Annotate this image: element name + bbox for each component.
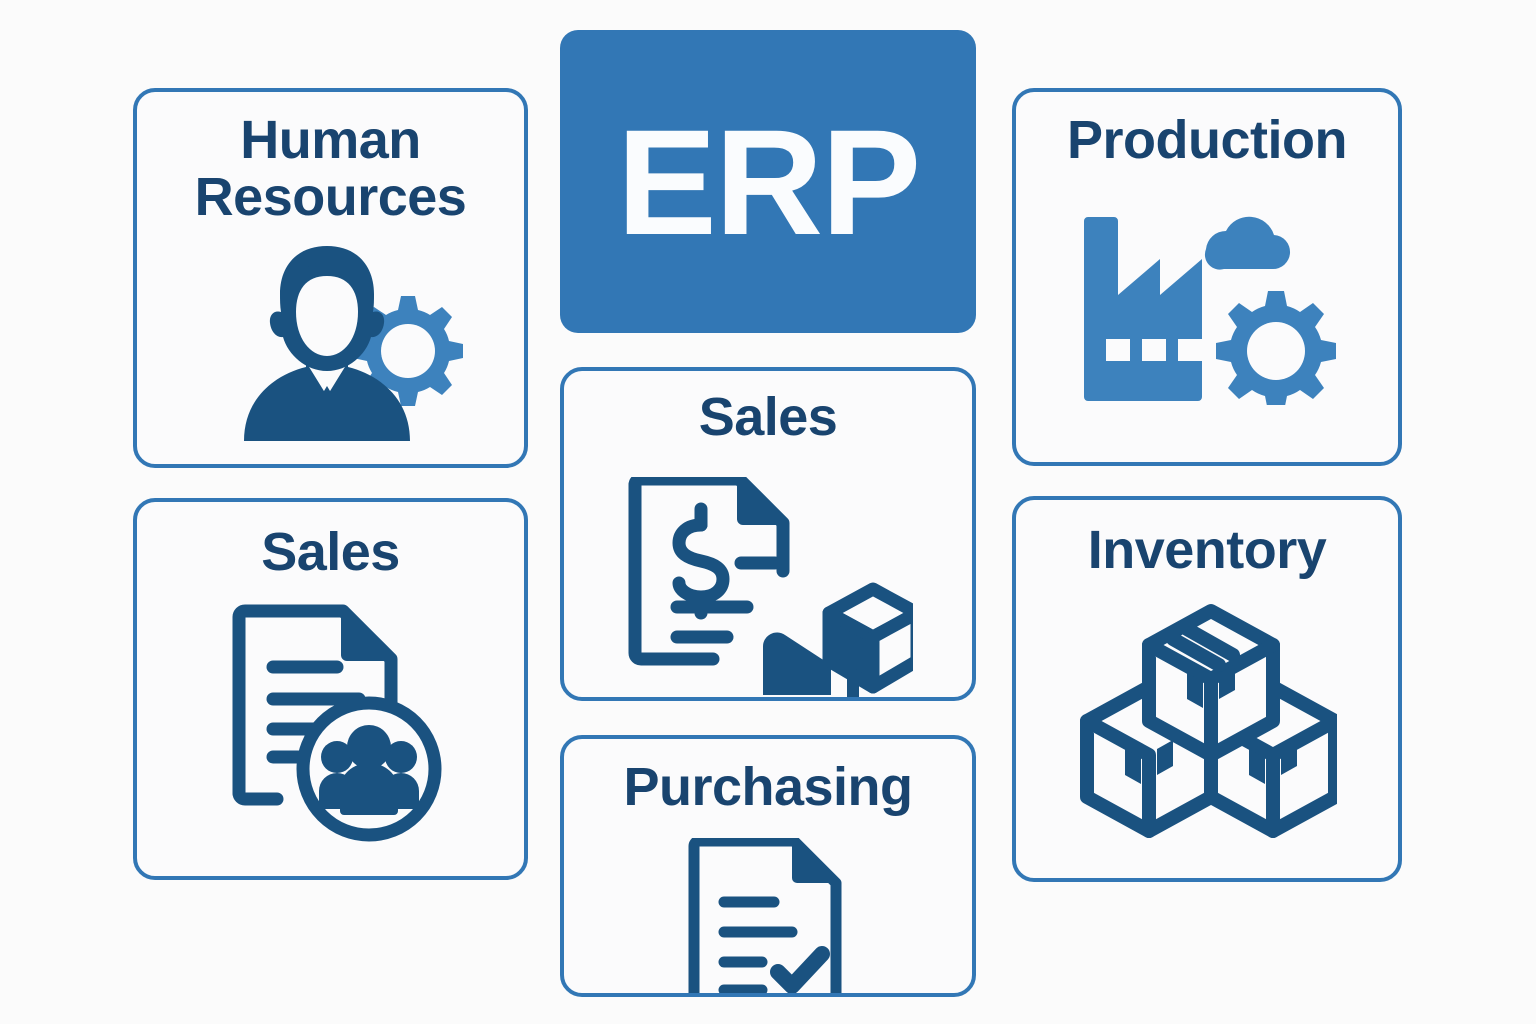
erp-hub-label: ERP bbox=[617, 107, 919, 257]
factory-with-gear-icon bbox=[1016, 169, 1398, 462]
module-card-sales-left[interactable]: Sales bbox=[133, 498, 528, 880]
module-card-production[interactable]: Production bbox=[1012, 88, 1402, 466]
card-title-sales-left: Sales bbox=[137, 502, 524, 581]
invoice-with-box-icon bbox=[564, 446, 972, 697]
card-title-production: Production bbox=[1016, 92, 1398, 169]
module-card-purchasing[interactable]: Purchasing bbox=[560, 735, 976, 997]
card-title-sales-center: Sales bbox=[564, 371, 972, 446]
erp-hub-block[interactable]: ERP bbox=[560, 30, 976, 333]
erp-diagram-canvas: Human Resources bbox=[0, 0, 1536, 1024]
module-card-human-resources[interactable]: Human Resources bbox=[133, 88, 528, 468]
module-card-inventory[interactable]: Inventory bbox=[1012, 496, 1402, 882]
document-with-checkmark-icon bbox=[564, 816, 972, 993]
card-title-human-resources: Human Resources bbox=[137, 92, 524, 226]
card-title-inventory: Inventory bbox=[1016, 500, 1398, 579]
module-card-sales-center[interactable]: Sales bbox=[560, 367, 976, 701]
person-with-gear-icon bbox=[137, 226, 524, 464]
document-with-people-icon bbox=[137, 581, 524, 876]
stacked-boxes-icon bbox=[1016, 579, 1398, 878]
card-title-purchasing: Purchasing bbox=[564, 739, 972, 816]
